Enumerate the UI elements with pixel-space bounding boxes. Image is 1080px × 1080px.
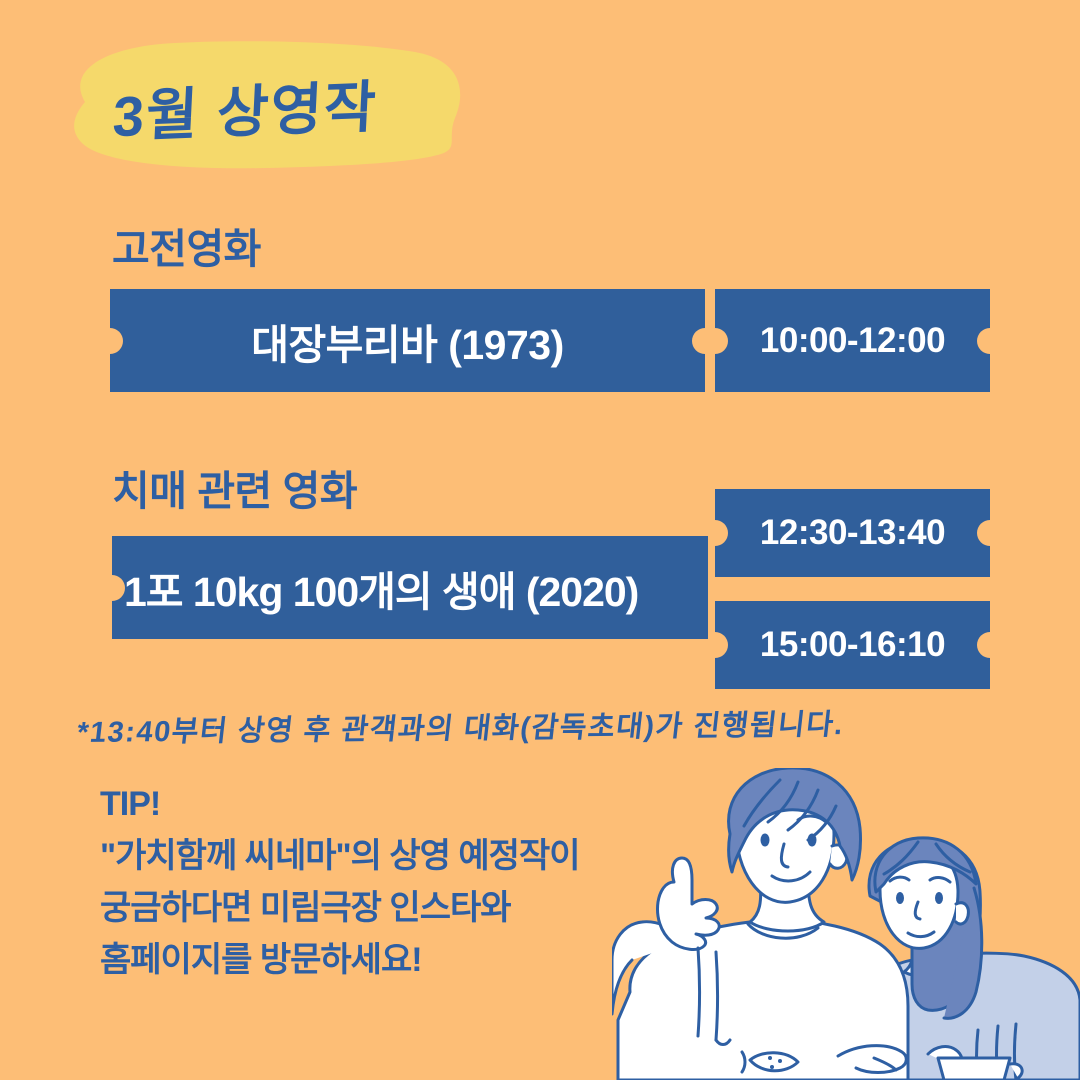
ticket-film-title-classic[interactable]: 대장부리바 (1973) xyxy=(110,289,705,392)
showtime-dementia-2: 15:00-16:10 xyxy=(760,625,945,665)
poster-canvas: 3월 상영작 고전영화 대장부리바 (1973) 10:00-12:00 치매 … xyxy=(0,0,1080,1080)
title-blob: 3월 상영작 xyxy=(55,38,465,173)
tip-line-1: "가치함께 씨네마"의 상영 예정작이 xyxy=(100,830,580,882)
tip-line-2: 궁금하다면 미림극장 인스타와 xyxy=(100,882,580,934)
ticket-notch-left xyxy=(702,328,728,354)
ticket-showtime-dementia-1[interactable]: 12:30-13:40 xyxy=(715,489,990,577)
tip-label: TIP! xyxy=(100,778,580,830)
ticket-showtime-classic-1[interactable]: 10:00-12:00 xyxy=(715,289,990,392)
ticket-separator xyxy=(715,577,990,601)
poster-title: 3월 상영작 xyxy=(111,60,435,153)
film-title-classic: 대장부리바 (1973) xyxy=(251,311,564,371)
screening-note: *13:40부터 상영 후 관객과의 대화(감독초대)가 진행됩니다. xyxy=(75,701,847,751)
couple-pointing-illustration xyxy=(612,768,1080,1080)
tip-block: TIP! "가치함께 씨네마"의 상영 예정작이 궁금하다면 미림극장 인스타와… xyxy=(100,778,580,986)
ticket-notch-right xyxy=(977,328,1003,354)
ticket-notch-left xyxy=(97,328,123,354)
ticket-notch-right xyxy=(977,520,1003,546)
showtime-dementia-1: 12:30-13:40 xyxy=(760,513,945,553)
ticket-showtime-dementia-2[interactable]: 15:00-16:10 xyxy=(715,601,990,689)
tip-line-3: 홈페이지를 방문하세요! xyxy=(100,934,580,986)
film-title-dementia: 1포 10kg 100개의 생애 (2020) xyxy=(124,558,638,618)
ticket-notch-left xyxy=(99,575,125,601)
showtime-classic-1: 10:00-12:00 xyxy=(760,321,945,361)
ticket-film-title-dementia[interactable]: 1포 10kg 100개의 생애 (2020) xyxy=(112,536,708,639)
ticket-notch-right xyxy=(977,632,1003,658)
section-heading-dementia: 치매 관련 영화 xyxy=(112,457,357,517)
section-heading-classic: 고전영화 xyxy=(112,215,261,275)
